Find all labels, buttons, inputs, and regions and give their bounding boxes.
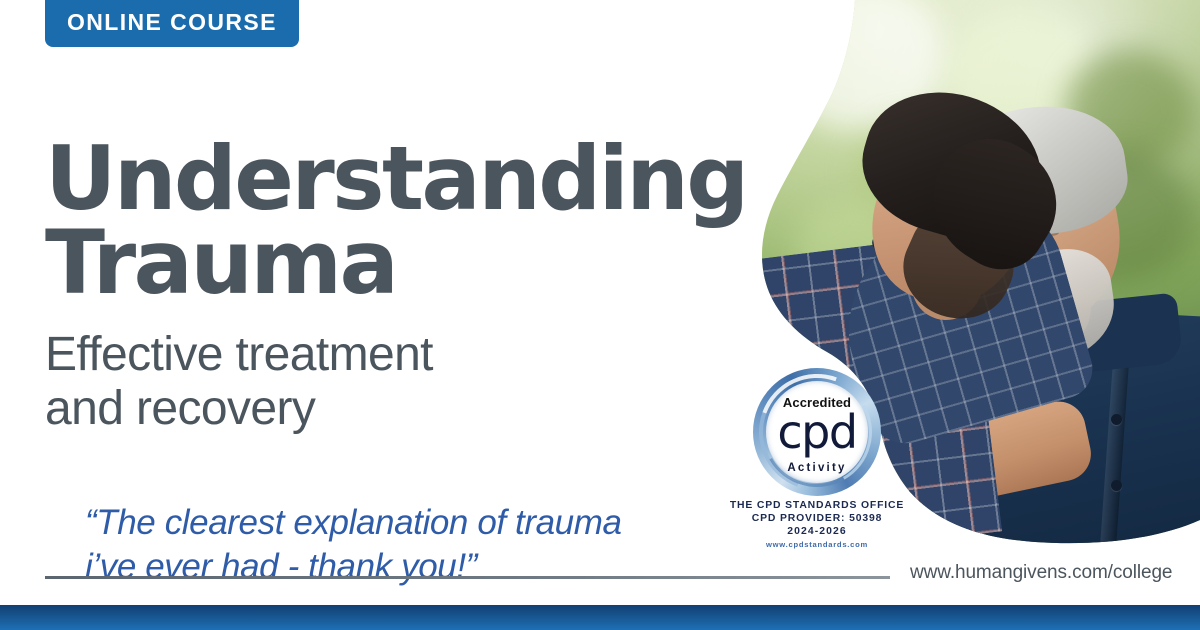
course-promo-banner: Accredited cpd Activity THE CPD STANDARD…	[0, 0, 1200, 630]
cpd-accreditation-badge: Accredited cpd Activity THE CPD STANDARD…	[726, 368, 908, 549]
cpd-website-line: www.cpdstandards.com	[726, 540, 908, 549]
page-title: Understanding Trauma	[45, 137, 745, 306]
cpd-office-line: THE CPD STANDARDS OFFICE	[726, 500, 908, 511]
cpd-provider-line: CPD PROVIDER: 50398	[726, 513, 908, 524]
cpd-activity-label: Activity	[753, 462, 881, 474]
shirt-button	[1111, 414, 1122, 425]
cpd-years-line: 2024-2026	[726, 526, 908, 537]
online-course-tag: ONLINE COURSE	[45, 0, 299, 47]
cpd-wordmark: cpd	[753, 409, 881, 455]
cpd-caption: THE CPD STANDARDS OFFICE CPD PROVIDER: 5…	[726, 500, 908, 549]
bottom-accent-bar	[0, 605, 1200, 630]
cpd-logo-icon: Accredited cpd Activity	[753, 368, 881, 496]
website-url[interactable]: www.humangivens.com/college	[910, 562, 1172, 584]
divider	[45, 576, 890, 579]
cpd-logo-text: Accredited cpd Activity	[753, 368, 881, 496]
page-subtitle: Effective treatment and recovery	[45, 328, 685, 436]
shirt-button	[1111, 480, 1122, 491]
